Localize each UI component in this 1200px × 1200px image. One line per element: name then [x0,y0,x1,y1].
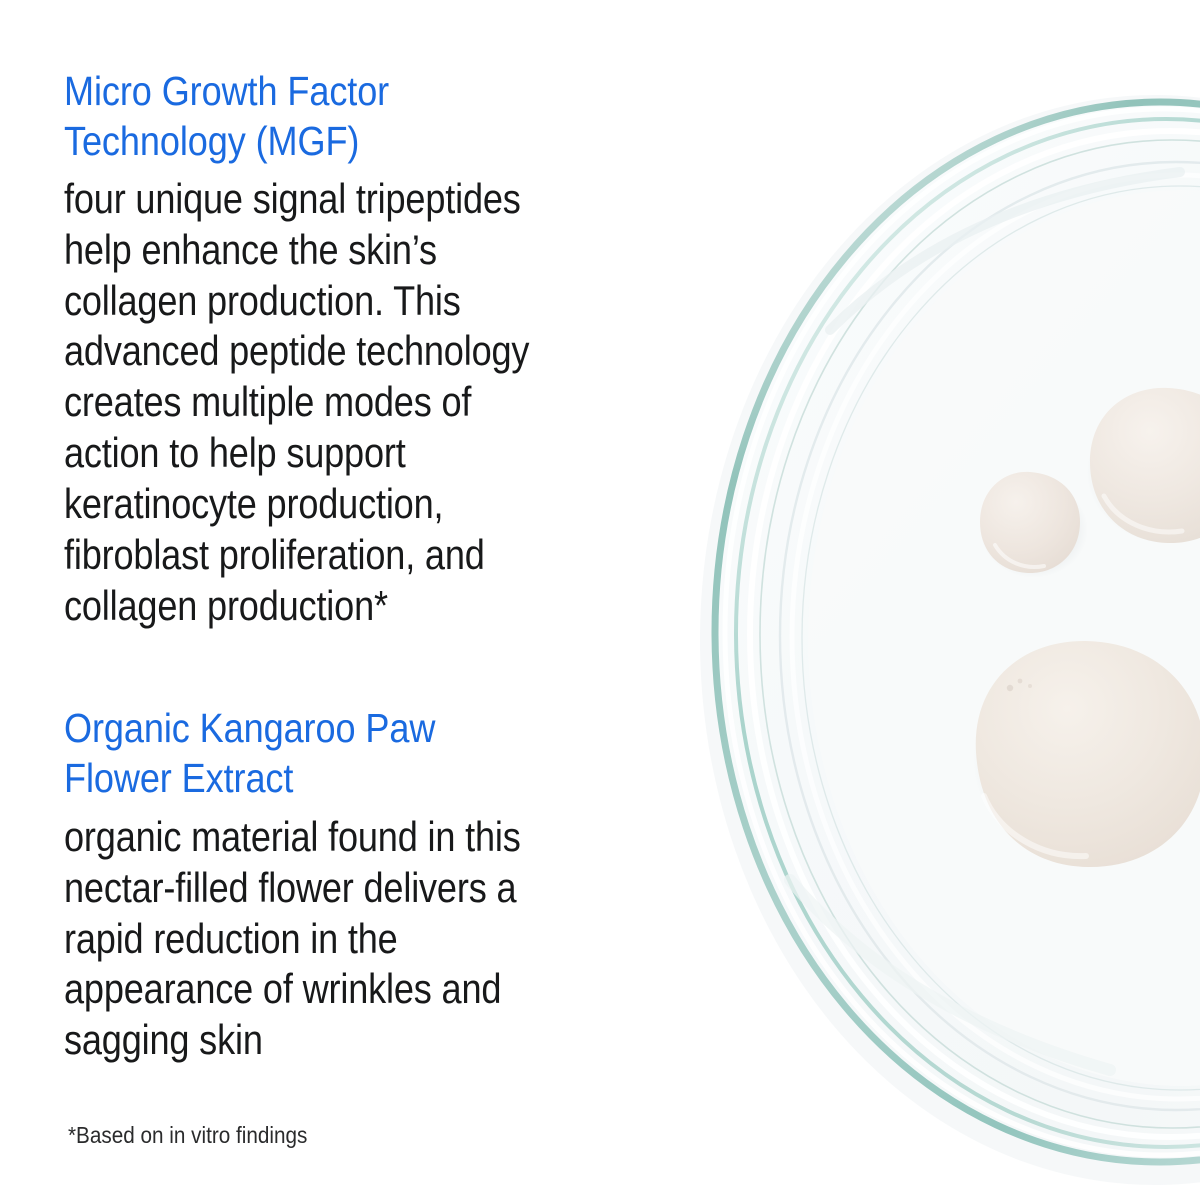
footnote-block: *Based on in vitro findings [68,1122,628,1150]
medium-serum-droplet [1090,388,1200,543]
dish-rim-secondary [736,119,1200,1147]
dish-floor [808,190,1200,1086]
large-droplet-highlight [984,796,1086,856]
dish-rim-highlight-outer [725,109,1200,1155]
mgf-heading: Micro Growth Factor Technology (MGF) [64,66,662,166]
footnote-text: *Based on in vitro findings [68,1122,572,1150]
kangaroo-paw-body-text: organic material found in this nectar-fi… [64,812,666,1066]
small-droplet-shadow [980,482,1088,578]
small-serum-droplet [980,472,1080,573]
ingredient-text-column: Micro Growth Factor Technology (MGF) fou… [64,0,744,1200]
infographic-canvas: Micro Growth Factor Technology (MGF) fou… [0,0,1200,1200]
kangaroo-paw-body-block: organic material found in this nectar-fi… [64,812,764,1066]
dish-rim-highlight-inner [750,131,1200,1137]
dish-inner-wall-highlight [792,175,1200,1099]
dish-inner-wall-hairline [802,186,1200,1090]
medium-droplet-highlight [1104,496,1182,532]
large-droplet-bubble-2 [1018,679,1023,684]
dish-inner-wall [780,162,1200,1110]
mgf-body-block: four unique signal tripeptides help enha… [64,174,764,631]
mgf-body-text: four unique signal tripeptides help enha… [64,174,666,631]
large-droplet-bubble-3 [1028,684,1032,688]
dish-reflection-bottom [790,880,1110,1070]
dish-rim-hairline [760,140,1200,1128]
medium-droplet-shadow [1086,400,1200,544]
dish-drop-shadow [700,95,1200,1185]
large-droplet-bubble-1 [1007,685,1013,691]
dish-glass-body [715,102,1200,1162]
kangaroo-paw-heading: Organic Kangaroo Paw Flower Extract [64,703,662,803]
large-droplet-shadow [972,654,1200,866]
dish-reflection-top [830,172,1180,330]
large-serum-droplet [976,641,1200,867]
small-droplet-highlight [995,545,1044,567]
dish-outer-rim [715,102,1200,1162]
kangaroo-paw-section: Organic Kangaroo Paw Flower Extract [64,703,744,803]
mgf-section: Micro Growth Factor Technology (MGF) [64,66,744,166]
